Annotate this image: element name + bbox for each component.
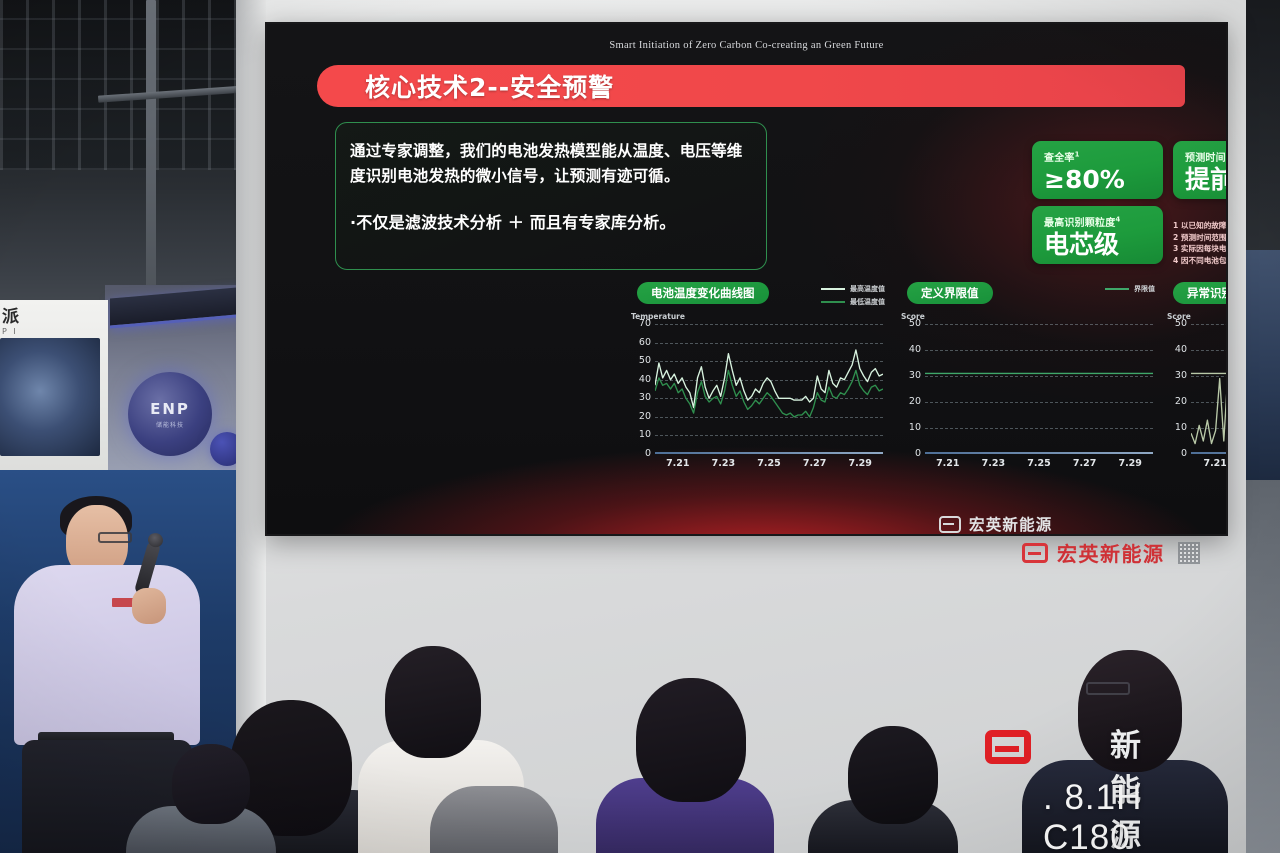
stat-card-lead-time: 预测时间2 提前7天 [1173,141,1228,199]
chart-title-badge: 电池温度变化曲线图 [637,282,769,304]
chart-legend: 最高温度值最低温度值 [821,284,885,307]
footnote-item: 2 预测时间范围可依据需求调整，以实际结果为准。 [1173,232,1228,244]
chart-battery-temperature: 电池温度变化曲线图最高温度值最低温度值Temperature0102030405… [629,282,885,482]
y-tick-label: 60 [629,337,651,348]
legend-item: 最高温度值 [821,284,885,294]
y-tick-label: 10 [629,429,651,440]
audience-head [385,646,481,758]
body-paragraph-1: 通过专家调整，我们的电池发热模型能从温度、电压等维度识别电池发热的微小信号，让预… [350,139,752,189]
chart-anomaly-prediction: 异常识别预测图界限值Score010203040507.217.237.257.… [1165,282,1228,482]
plot-area: 01020304050 [925,324,1153,454]
legend-item: 最低温度值 [821,297,885,307]
y-tick-label: 70 [629,318,651,329]
legend-swatch [821,288,845,290]
y-tick-label: 50 [1165,318,1187,329]
slide: Smart Initiation of Zero Carbon Co-creat… [267,24,1226,534]
y-tick-label: 40 [1165,344,1187,355]
plot-area: 01020304050 [1191,324,1228,454]
presenter-hand [132,588,166,624]
company-logo-icon [985,730,1031,764]
legend-label: 界限值 [1134,284,1155,294]
plot-area: 010203040506070 [655,324,883,454]
slide-footer-logo: 宏英新能源 [939,513,1053,535]
stat-label: 查全率1 [1044,149,1153,164]
neighbor-brand-sub: P I [2,327,82,336]
body-paragraph-2: ·不仅是滤波技术分析 ＋ 而且有专家库分析。 [350,209,752,233]
y-tick-label: 30 [899,370,921,381]
presenter-shirt [14,565,200,745]
slide-body-box: 通过专家调整，我们的电池发热模型能从温度、电压等维度识别电池发热的微小信号，让预… [335,122,767,270]
series-canvas [655,324,883,454]
y-tick-label: 50 [899,318,921,329]
enp-logo-disc: ENP 储能科技 [128,372,212,456]
y-tick-label: 10 [899,422,921,433]
neighbor-booth-screen [0,338,100,456]
x-tick-label: 7.27 [803,458,826,469]
x-tick-label: 7.25 [757,458,780,469]
stat-value: 电芯级 [1044,230,1153,259]
slide-title-banner: 核心技术2--安全预警 [317,65,1185,107]
slide-footer-brand: 宏英新能源 [969,513,1053,535]
x-tick-label: 7.27 [1073,458,1096,469]
footnote-list: 1 以已知的故障类型为基础，实际因场景和电池材料不同有区别。 2 预测时间范围可… [1173,220,1228,266]
footnote-item: 3 实际因每块电池的使用场景不同而有差异。 [1173,243,1228,255]
chart-title-badge: 定义界限值 [907,282,993,304]
glasses-icon [98,532,132,543]
series-canvas [925,324,1153,454]
glasses-icon [1086,682,1130,695]
wall-brand-text: 宏英新能源 [1057,538,1165,567]
legend-swatch [1105,288,1129,290]
audience-head [848,726,938,824]
qr-code-icon [1178,542,1200,564]
footnote-item: 1 以已知的故障类型为基础，实际因场景和电池材料不同有区别。 [1173,220,1228,232]
y-tick-label: 0 [899,448,921,459]
neighbor-brand-text: 派 [2,307,20,327]
x-tick-label: 7.29 [848,458,871,469]
enp-logo-sub: 储能科技 [156,420,184,429]
company-logo-icon [1022,543,1048,563]
y-tick-label: 30 [629,392,651,403]
enp-logo-text: ENP [150,400,190,418]
x-tick-label: 7.25 [1027,458,1050,469]
page-title: 核心技术2--安全预警 [365,68,614,104]
legend-label: 最高温度值 [850,284,885,294]
y-tick-label: 0 [629,448,651,459]
footnote-item: 4 因不同电池包制造规格和数据质量而有不同。 [1173,255,1228,267]
x-tick-label: 7.21 [1203,458,1226,469]
y-tick-label: 10 [1165,422,1187,433]
ceiling-truss [0,0,262,170]
series-canvas [1191,324,1228,454]
legend-swatch [821,301,845,303]
y-tick-label: 30 [1165,370,1187,381]
hall-left-background: ENP 储能科技 派 P I [0,0,262,520]
audience-head [172,744,250,824]
stat-label: 预测时间2 [1185,149,1228,164]
audience-head [636,678,746,802]
x-tick-label: 7.23 [712,458,735,469]
exhibition-hall-scene: ENP 储能科技 派 P I Smart Initiation of Zero … [0,0,1280,853]
series-line [1191,332,1228,446]
x-tick-label: 7.29 [1118,458,1141,469]
y-tick-label: 50 [629,355,651,366]
chart-legend: 界限值 [1105,284,1155,294]
company-logo-icon [939,516,961,533]
chart-threshold-definition: 定义界限值界限值Score010203040507.217.237.257.27… [899,282,1155,482]
neighbor-brand-label: 派 P I [2,302,82,334]
stat-label: 最高识别颗粒度4 [1044,214,1153,229]
series-line [655,350,883,408]
presenter-logo-badge [112,598,134,607]
x-tick-label: 7.23 [982,458,1005,469]
legend-item: 界限值 [1105,284,1155,294]
y-tick-label: 40 [629,374,651,385]
legend-label: 最低温度值 [850,297,885,307]
presentation-screen: Smart Initiation of Zero Carbon Co-creat… [265,22,1228,536]
y-tick-label: 20 [899,396,921,407]
booth-overlay-hall: . 8.1H C180 [1043,778,1142,853]
y-tick-label: 20 [629,411,651,422]
stat-card-recall: 查全率1 ≥80% [1032,141,1163,199]
stat-value: 提前7天 [1185,165,1228,194]
series-line [655,370,883,417]
x-tick-label: 7.21 [666,458,689,469]
chart-title-badge: 异常识别预测图 [1173,282,1228,304]
slide-eyebrow: Smart Initiation of Zero Carbon Co-creat… [267,40,1226,51]
y-tick-label: 0 [1165,448,1187,459]
stat-value: ≥80% [1044,165,1153,194]
y-tick-label: 40 [899,344,921,355]
y-tick-label: 20 [1165,396,1187,407]
x-tick-label: 7.21 [936,458,959,469]
stat-card-granularity: 最高识别颗粒度4 电芯级 [1032,206,1163,264]
wall-brand-logo: 宏英新能源 [1022,538,1200,567]
audience-bag [430,786,558,853]
